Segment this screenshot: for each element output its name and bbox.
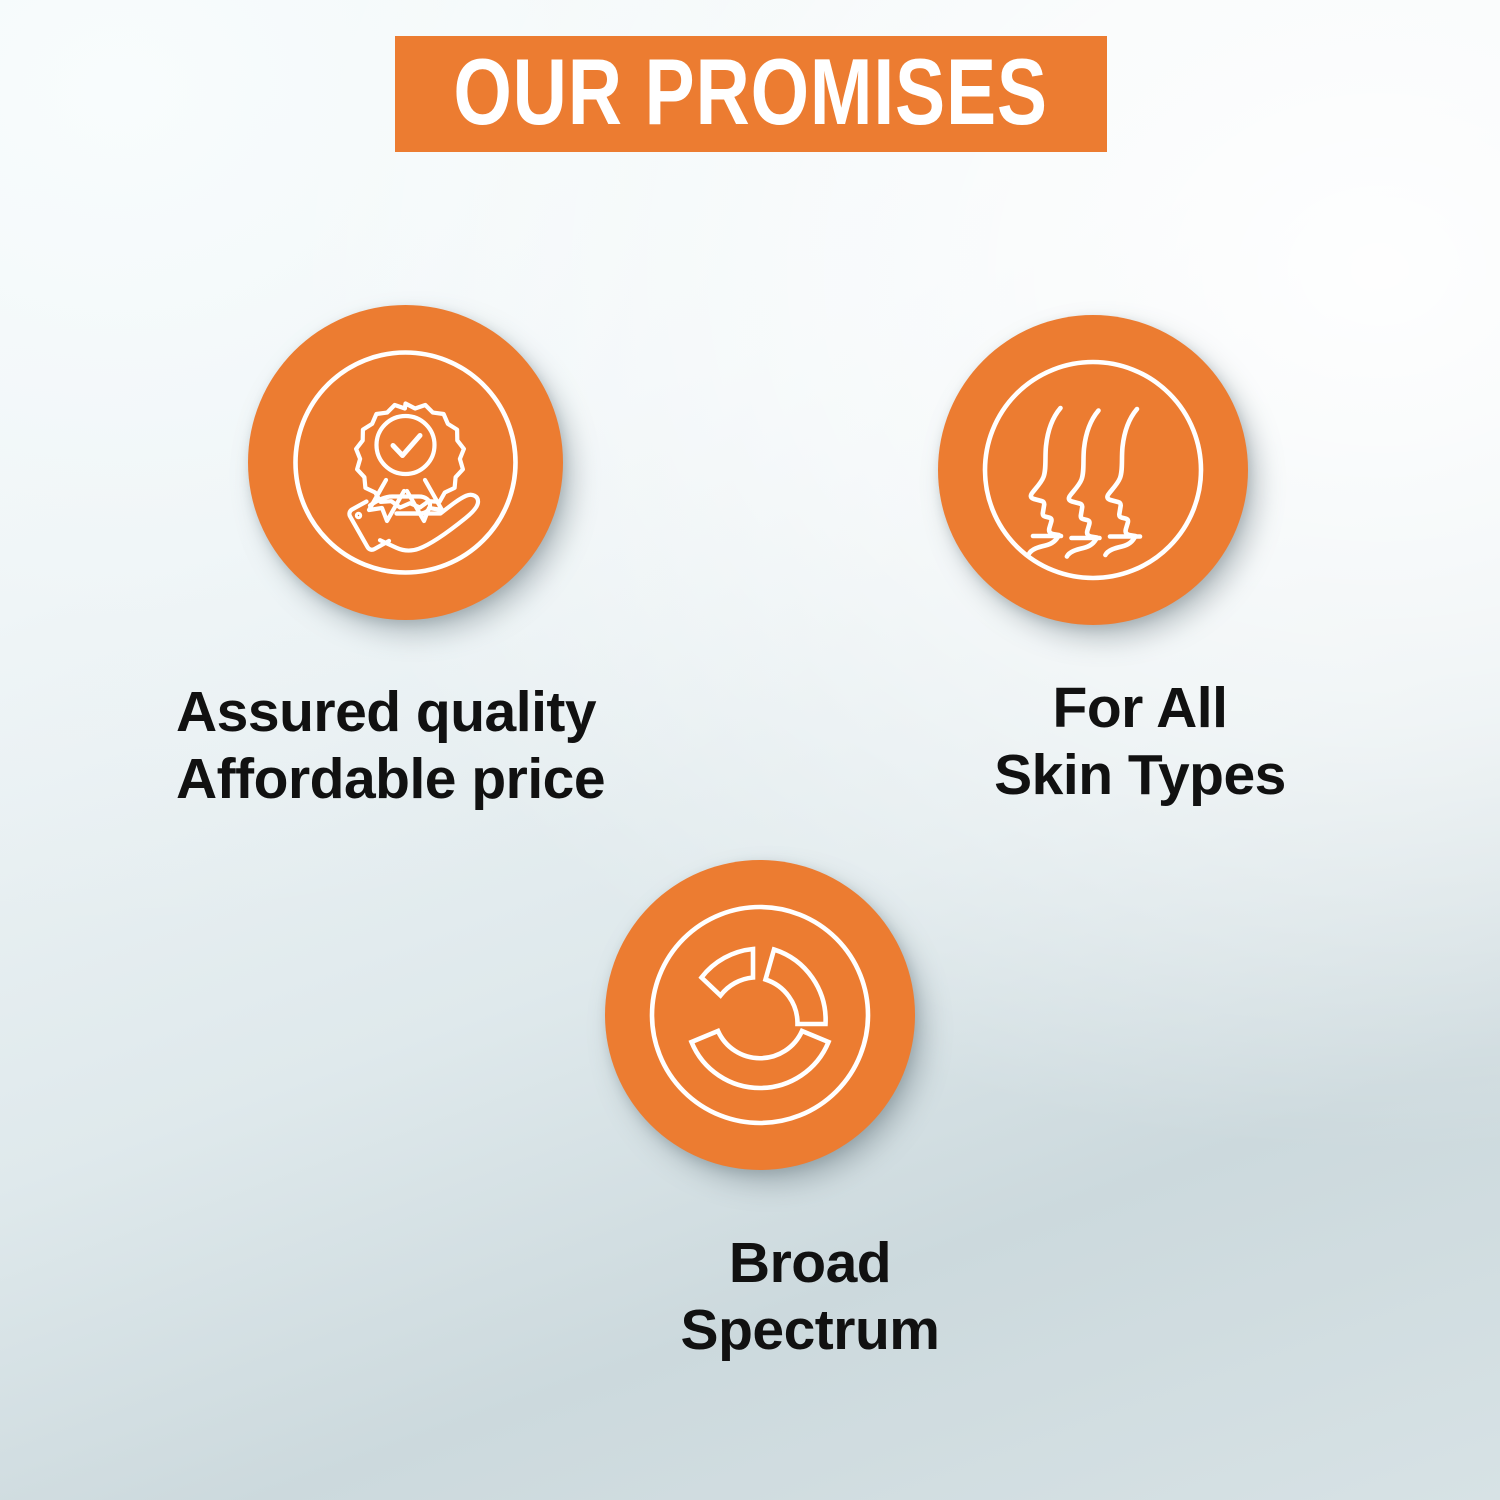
promise-item-broad-spectrum: Broad Spectrum <box>600 860 1020 1365</box>
broad-spectrum-donut-segments-icon <box>605 860 915 1170</box>
promise-caption-broad-spectrum: Broad Spectrum <box>600 1230 1020 1365</box>
promise-caption-assured-quality: Assured quality Affordable price <box>176 679 888 814</box>
promise-caption-skin-types: For All Skin Types <box>930 675 1350 810</box>
promise-item-assured-quality: Assured quality Affordable price <box>248 305 888 814</box>
promise-icon-skin-types <box>938 315 1248 625</box>
header-banner: OUR PROMISES <box>395 36 1107 152</box>
promise-icon-badge <box>248 305 563 620</box>
three-face-profiles-skin-types-icon <box>938 315 1248 625</box>
promise-item-skin-types: For All Skin Types <box>930 315 1350 810</box>
page-title: OUR PROMISES <box>454 45 1049 139</box>
promises-infographic: OUR PROMISES Assur <box>0 0 1500 1500</box>
hand-holding-quality-badge-icon <box>248 305 563 620</box>
promise-icon-broad-spectrum <box>605 860 915 1170</box>
